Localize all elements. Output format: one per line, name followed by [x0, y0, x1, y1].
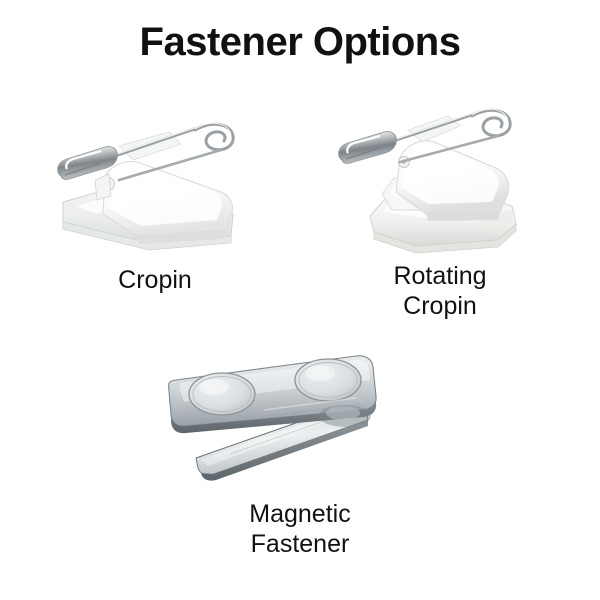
product-image-canvas: Fastener Options: [0, 0, 600, 600]
fastener-option-magnetic-fastener[interactable]: Magnetic Fastener: [160, 350, 440, 559]
magnetic-fastener-image: [160, 350, 440, 485]
magnet-disc-right: [295, 359, 361, 401]
magnetic-fastener-label: Magnetic Fastener: [160, 499, 440, 559]
cropin-clip-image: [45, 110, 265, 255]
rotating-cropin-clip-image: [330, 100, 550, 255]
magnetic-pivot-shadow: [319, 405, 371, 427]
fastener-option-rotating-cropin[interactable]: Rotating Cropin: [330, 100, 550, 321]
magnet-disc-left: [189, 373, 255, 415]
cropin-label: Cropin: [45, 265, 265, 295]
fastener-option-cropin[interactable]: Cropin: [45, 110, 265, 295]
page-title: Fastener Options: [0, 18, 600, 66]
rotating-cropin-label: Rotating Cropin: [330, 261, 550, 321]
